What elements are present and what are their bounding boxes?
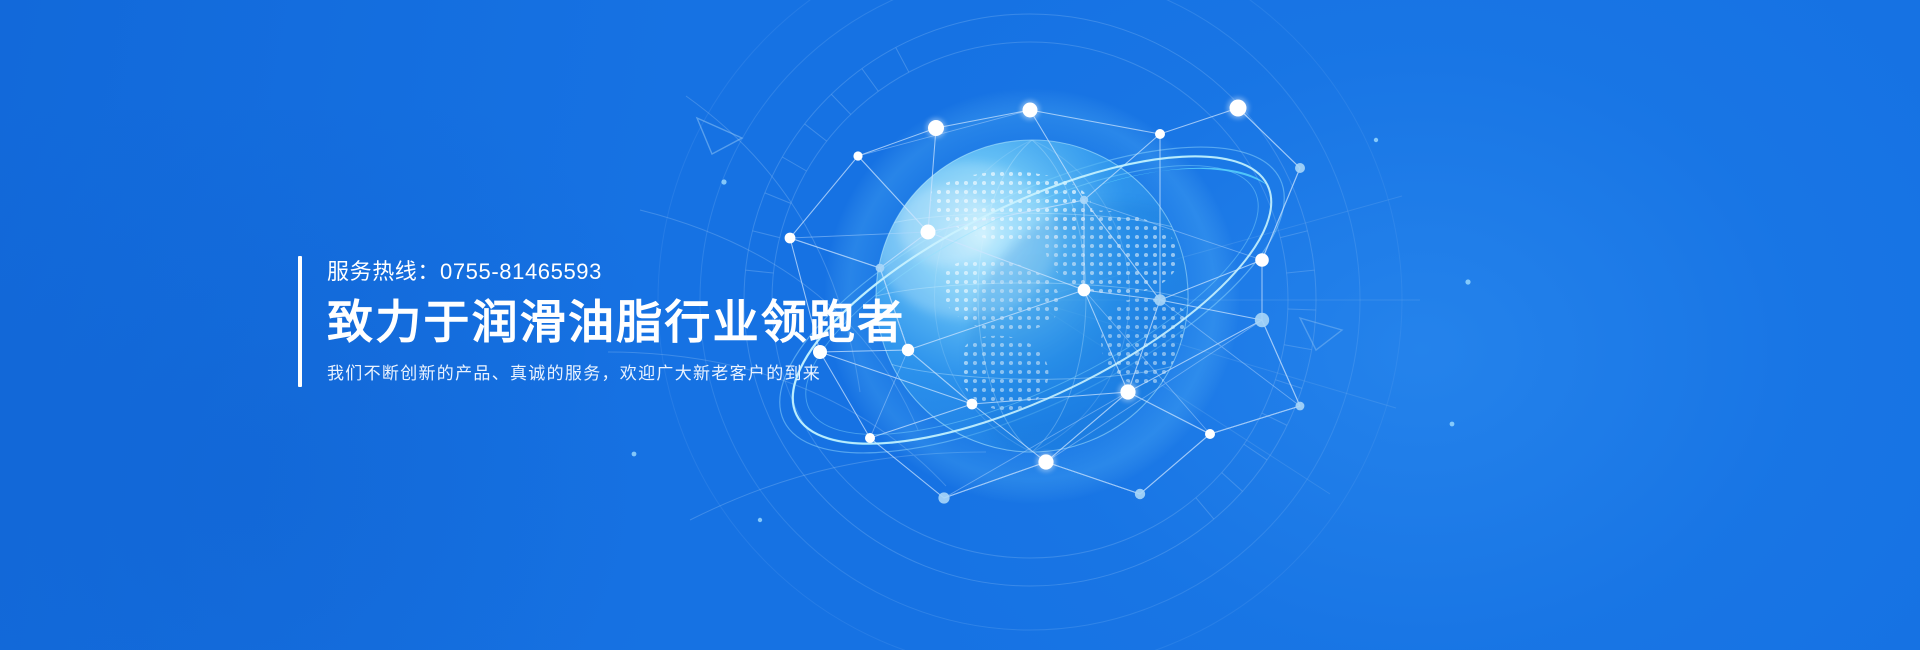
network-globe-illustration bbox=[0, 0, 1920, 650]
hero-copy-text: 服务热线：0755-81465593 致力于润滑油脂行业领跑者 我们不断创新的产… bbox=[302, 256, 905, 387]
hero-banner: 服务热线：0755-81465593 致力于润滑油脂行业领跑者 我们不断创新的产… bbox=[0, 0, 1920, 650]
hero-copy-block: 服务热线：0755-81465593 致力于润滑油脂行业领跑者 我们不断创新的产… bbox=[298, 256, 905, 387]
service-hotline-text: 服务热线：0755-81465593 bbox=[327, 257, 905, 287]
accent-triangle-right bbox=[1300, 318, 1342, 350]
hero-headline: 致力于润滑油脂行业领跑者 bbox=[327, 291, 905, 353]
hero-subtitle: 我们不断创新的产品、真诚的服务，欢迎广大新老客户的到来 bbox=[327, 361, 905, 387]
